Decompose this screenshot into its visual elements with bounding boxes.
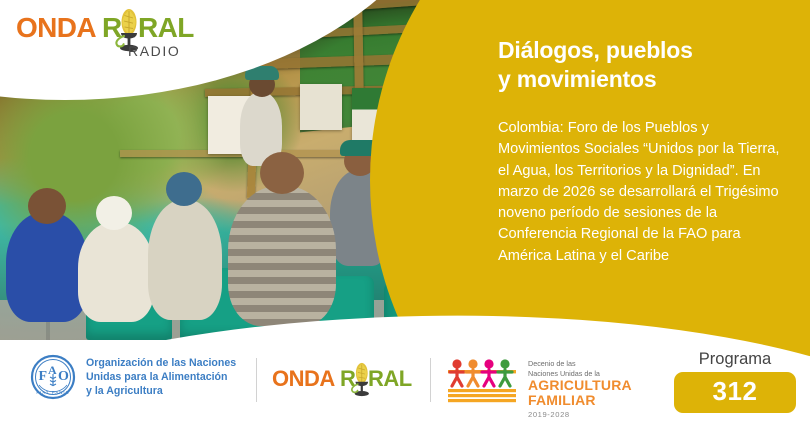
footer-logo-onda: ONDA: [272, 366, 335, 392]
decade-subtitle: Decenio de las Naciones Unidas de la: [528, 359, 632, 378]
programa-badge: Programa 312: [674, 350, 796, 413]
decade-title-line1: AGRICULTURA: [528, 378, 632, 393]
person-seated: [6, 212, 88, 322]
footer-logo-ral: RAL: [368, 366, 412, 392]
person-seated: [78, 222, 154, 322]
family-farming-decade-logo[interactable]: Decenio de las Naciones Unidas de la AGR…: [448, 358, 632, 419]
logo-text-ral: RAL: [138, 12, 194, 44]
radio-program-card: Diálogos, pueblos y movimientos Colombia…: [0, 0, 810, 424]
program-description: Colombia: Foro de los Pueblos y Movimien…: [498, 118, 786, 267]
programa-number: 312: [674, 372, 796, 413]
ondarural-radio-logo[interactable]: ONDA R RAL RADIO: [16, 12, 196, 68]
svg-text:F: F: [39, 369, 48, 384]
svg-text:O: O: [58, 369, 69, 384]
logo-text-radio: RADIO: [128, 43, 180, 59]
decade-years: 2019-2028: [528, 410, 632, 419]
programa-label: Programa: [674, 350, 796, 369]
person-seated: [148, 200, 222, 320]
footer-divider: [256, 358, 257, 402]
family-figures-icon: [448, 358, 520, 404]
fao-label: Organización de las Naciones Unidas para…: [86, 356, 236, 398]
wall-poster: [300, 84, 342, 130]
svg-text:FIAT PANIS: FIAT PANIS: [36, 390, 69, 395]
decade-title-line2: FAMILIAR: [528, 393, 632, 408]
footer-bar: F A O FIAT PANIS Organización de las Nac…: [0, 340, 810, 424]
fao-logo[interactable]: F A O FIAT PANIS Organización de las Nac…: [30, 354, 236, 400]
logo-text-onda: ONDA: [16, 12, 96, 44]
fao-emblem-icon: F A O FIAT PANIS: [30, 354, 76, 400]
page-title: Diálogos, pueblos y movimientos: [498, 36, 794, 94]
footer-divider: [430, 358, 431, 402]
ondarural-footer-logo[interactable]: ONDA R RAL: [272, 366, 422, 402]
person-seated: [228, 186, 336, 326]
